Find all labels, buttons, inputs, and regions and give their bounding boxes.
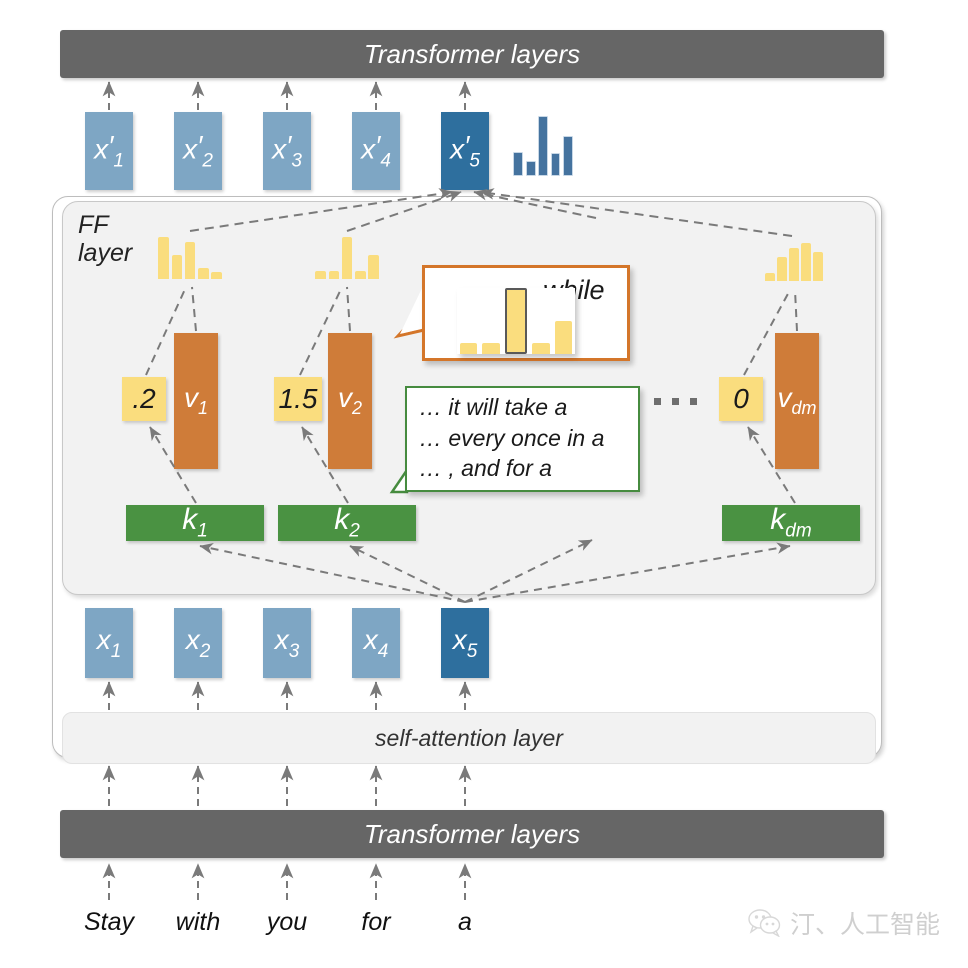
callout-green-line-3: … , and for a [419, 453, 638, 484]
input-token-x2-label: x2 [186, 624, 211, 663]
wechat-icon [748, 909, 782, 937]
bottom-transformer-layers-bar: Transformer layers [60, 810, 884, 858]
callout-green: … it will take a … every once in a … , a… [405, 386, 640, 492]
watermark: 汀、人工智能 [748, 905, 940, 941]
input-word-1: Stay [59, 908, 159, 937]
input-word-5: a [415, 908, 515, 937]
input-word-4: for [326, 908, 426, 937]
input-token-x3-label: x3 [275, 624, 300, 663]
input-word-2: with [148, 908, 248, 937]
input-token-x4: x4 [352, 608, 400, 678]
input-token-x4-label: x4 [364, 624, 389, 663]
callout-green-line-2: … every once in a [419, 423, 638, 454]
input-token-x2: x2 [174, 608, 222, 678]
callout-green-line-1: … it will take a [419, 392, 638, 423]
input-token-x3: x3 [263, 608, 311, 678]
diagram-canvas: Transformer layers x′1 x′2 x′3 x′4 x′5 F… [0, 0, 968, 968]
input-word-3: you [237, 908, 337, 937]
self-attention-panel: self-attention layer [62, 712, 876, 764]
input-token-x5: x5 [441, 608, 489, 678]
self-attention-label: self-attention layer [375, 725, 563, 752]
bottom-transformer-label: Transformer layers [364, 819, 580, 850]
input-token-x1: x1 [85, 608, 133, 678]
watermark-text: 汀、人工智能 [790, 905, 940, 941]
input-token-x1-label: x1 [97, 624, 122, 663]
input-token-x5-label: x5 [453, 624, 478, 663]
